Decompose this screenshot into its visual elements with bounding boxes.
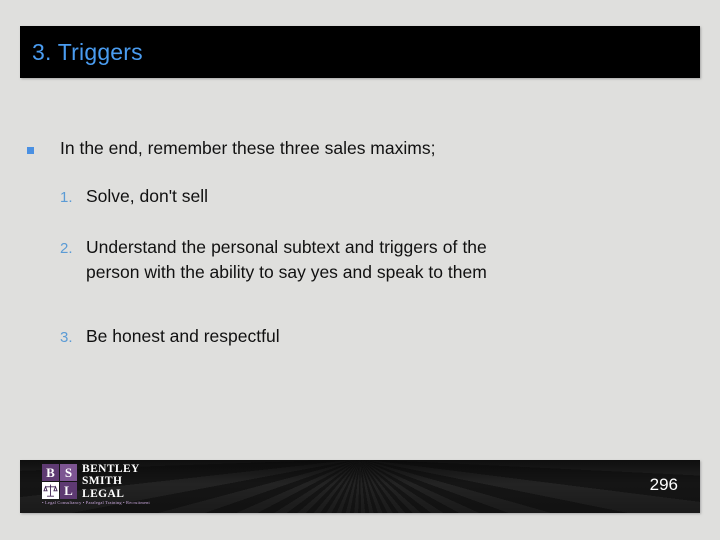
logo-letter-b: B xyxy=(42,464,59,481)
slide-page-number: 296 xyxy=(650,475,678,495)
bullet-item-label: In the end, remember these three sales m… xyxy=(60,138,435,160)
slide-canvas: 3. Triggers In the end, remember these t… xyxy=(0,0,720,540)
scales-icon-svg xyxy=(43,483,58,498)
logo-letter-l: L xyxy=(60,482,77,499)
numbered-list-item-3: 3. Be honest and respectful xyxy=(60,324,700,349)
logo-wordmark: BENTLEY SMITH LEGAL xyxy=(82,463,140,500)
numbered-list: 1. Solve, don't sell 2. Understand the p… xyxy=(20,184,700,349)
logo-tagline: • Legal Consultancy • Paralegal Training… xyxy=(42,500,150,505)
logo-word-bentley: BENTLEY xyxy=(82,463,140,475)
logo-word-smith: SMITH xyxy=(82,475,140,487)
numbered-list-item-1: 1. Solve, don't sell xyxy=(60,184,700,209)
numbered-list-item-2: 2. Understand the personal subtext and t… xyxy=(60,235,700,285)
logo-letter-grid: B S L xyxy=(42,464,76,498)
logo-word-legal: LEGAL xyxy=(82,488,140,500)
slide-body: In the end, remember these three sales m… xyxy=(20,138,700,443)
slide-title-bar: 3. Triggers xyxy=(20,26,700,78)
numbered-item-label-2: Understand the personal subtext and trig… xyxy=(86,235,487,285)
company-logo: B S L BENTLEY SMITH LEGAL xyxy=(42,464,140,500)
list-marker-1: 1. xyxy=(60,184,86,208)
bullet-list-item: In the end, remember these three sales m… xyxy=(20,138,700,160)
slide-title: 3. Triggers xyxy=(32,39,143,66)
list-marker-2: 2. xyxy=(60,235,86,259)
list-marker-3: 3. xyxy=(60,324,86,348)
slide-footer-bar: B S L BENTLEY SMITH LEGAL xyxy=(20,460,700,513)
scales-of-justice-icon xyxy=(42,482,59,499)
numbered-item-label-2-line1: Understand the personal subtext and trig… xyxy=(86,235,487,260)
numbered-item-label-2-line2: person with the ability to say yes and s… xyxy=(86,260,487,285)
square-bullet-icon xyxy=(27,147,34,154)
logo-letter-s: S xyxy=(60,464,77,481)
numbered-item-label-3: Be honest and respectful xyxy=(86,324,280,349)
numbered-item-label-1: Solve, don't sell xyxy=(86,184,208,209)
